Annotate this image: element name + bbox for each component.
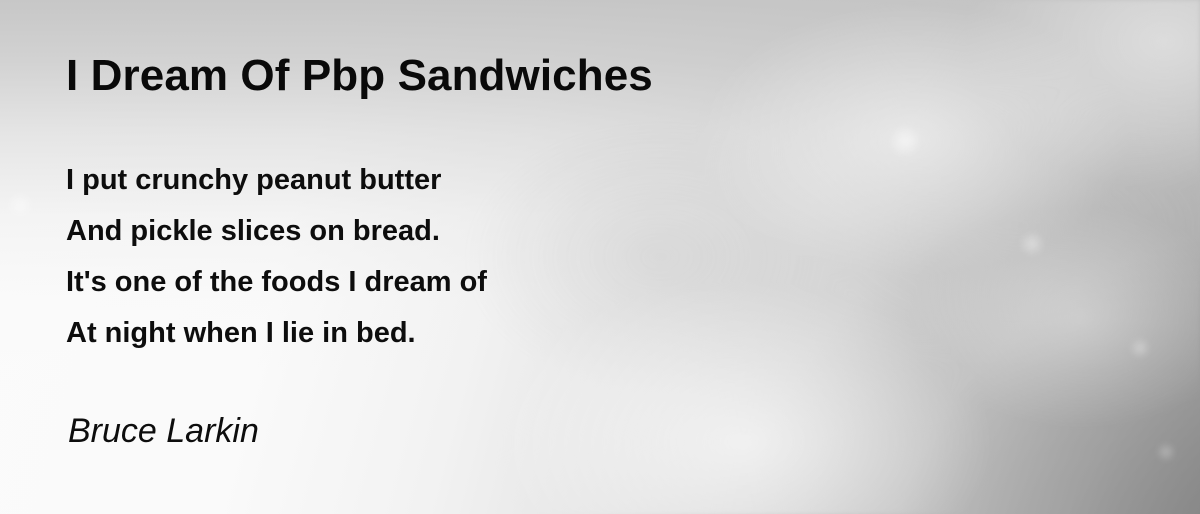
poem-author: Bruce Larkin [68, 412, 259, 451]
poem-line: And pickle slices on bread. [66, 206, 487, 257]
poem-page: I Dream Of Pbp Sandwiches I put crunchy … [0, 0, 1200, 514]
poem-line: At night when I lie in bed. [66, 308, 487, 359]
poem-line: It's one of the foods I dream of [66, 257, 487, 308]
poem-line: I put crunchy peanut butter [66, 155, 487, 206]
poem-content: I Dream Of Pbp Sandwiches I put crunchy … [66, 0, 1126, 514]
poem-body: I put crunchy peanut butter And pickle s… [66, 155, 487, 359]
poem-title: I Dream Of Pbp Sandwiches [66, 53, 653, 99]
